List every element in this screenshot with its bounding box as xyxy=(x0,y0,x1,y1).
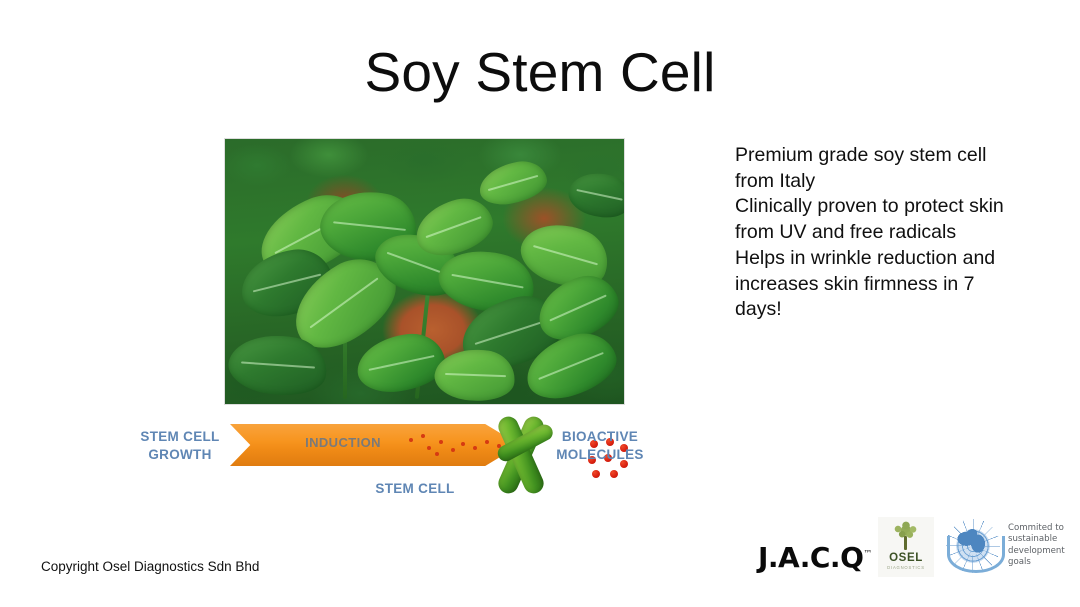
feature-paragraph-1: Premium grade soy stem cell from Italy xyxy=(735,143,1025,194)
un-olive-wreath xyxy=(947,536,1005,573)
jacq-wordmark: J.A.C.Q xyxy=(758,541,863,574)
stem-cell-process-diagram: STEM CELL GROWTH INDUCTION xyxy=(100,408,660,508)
logo-strip: J.A.C.Q™ OSEL DIAGNOSTICS Commited to su… xyxy=(750,515,1050,590)
diagram-label-line1: BIOACTIVE xyxy=(525,428,675,446)
induction-arrow: INDUCTION xyxy=(230,424,520,466)
jacq-logo: J.A.C.Q™ xyxy=(758,541,872,574)
un-caption-line-4: goals xyxy=(1008,557,1080,568)
un-caption-line-1: Commited to xyxy=(1008,523,1080,534)
arrow-label-induction: INDUCTION xyxy=(268,435,418,450)
feature-paragraph-3: Helps in wrinkle reduction and increases… xyxy=(735,246,1025,323)
page-title: Soy Stem Cell xyxy=(0,42,1080,103)
un-sdg-caption: Commited to sustainable development goal… xyxy=(1008,523,1080,569)
trademark-mark: ™ xyxy=(863,550,872,560)
diagram-label-line2: MOLECULES xyxy=(525,446,675,464)
un-caption-line-3: development xyxy=(1008,546,1080,557)
osel-logo: OSEL DIAGNOSTICS xyxy=(878,517,934,577)
osel-tagline: DIAGNOSTICS xyxy=(887,565,925,570)
slide-canvas: Soy Stem Cell STEM CELL GROWTH IND xyxy=(0,0,1080,607)
osel-wordmark: OSEL xyxy=(889,552,923,564)
tree-icon xyxy=(888,521,924,551)
feature-paragraph-2: Clinically proven to protect skin from U… xyxy=(735,194,1025,245)
un-caption-line-2: sustainable xyxy=(1008,534,1080,545)
soy-field-photo xyxy=(225,139,624,404)
tree-trunk xyxy=(904,536,907,550)
un-emblem-icon xyxy=(946,519,1000,573)
diagram-label-stem-cell: STEM CELL xyxy=(335,480,495,498)
diagram-label-bioactive-molecules: BIOACTIVE MOLECULES xyxy=(525,428,675,464)
copyright-text: Copyright Osel Diagnostics Sdn Bhd xyxy=(41,559,259,574)
feature-description: Premium grade soy stem cell from Italy C… xyxy=(735,143,1025,323)
